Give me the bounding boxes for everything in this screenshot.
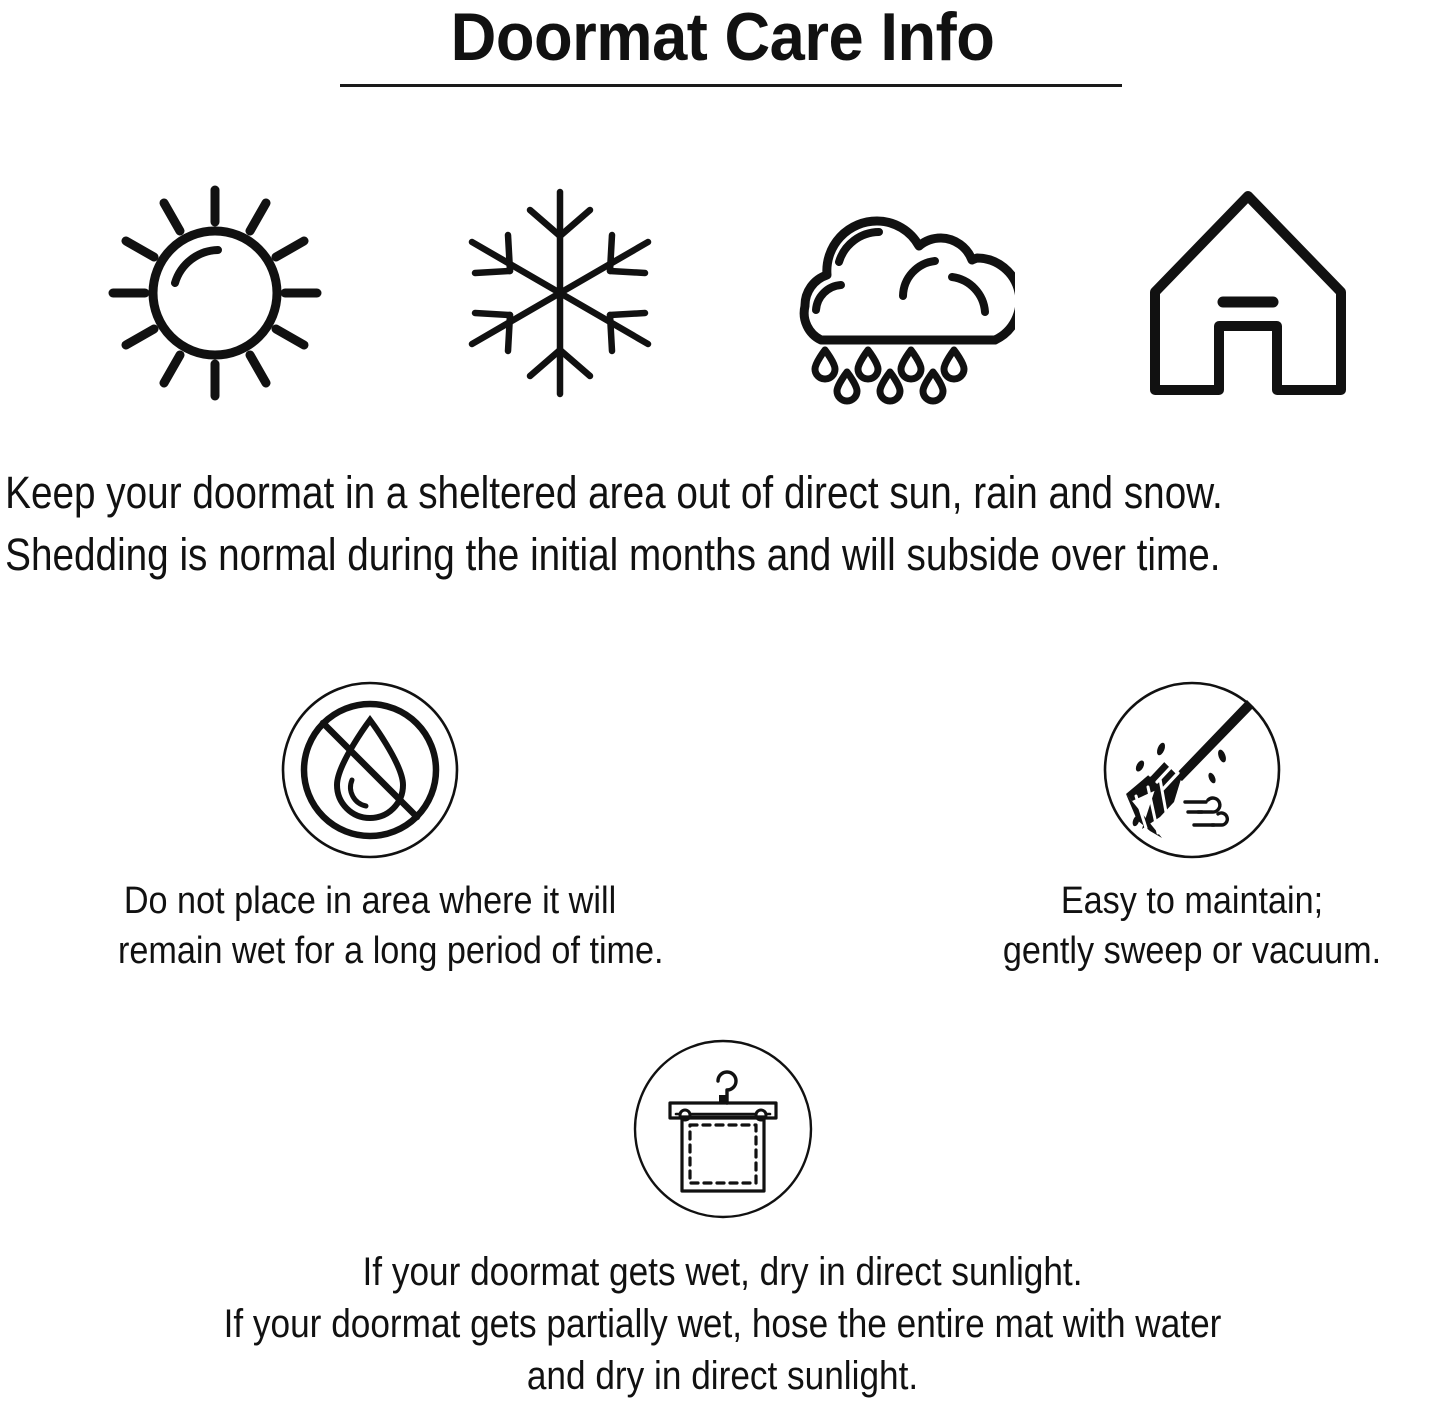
drying-line-2: If your doormat gets partially wet, hose…: [87, 1298, 1359, 1350]
title-block: Doormat Care Info: [0, 0, 1445, 74]
sun-icon: [100, 178, 330, 408]
page-title: Doormat Care Info: [51, 0, 1395, 74]
tip-easy-maintain-line-1: Easy to maintain;: [940, 876, 1444, 926]
tip-no-wet-area: Do not place in area where it will remai…: [90, 680, 650, 976]
tip-no-wet-area-line-1: Do not place in area where it will: [118, 876, 622, 926]
drying-line-1: If your doormat gets wet, dry in direct …: [87, 1246, 1359, 1298]
snowflake-icon: [445, 178, 675, 408]
tip-no-wet-area-line-2: remain wet for a long period of time.: [118, 926, 622, 976]
weather-icon-row: [0, 178, 1445, 408]
hanging-mat-icon: [632, 1038, 814, 1220]
drying-instructions-caption: If your doormat gets wet, dry in direct …: [0, 1246, 1445, 1402]
drying-instructions-block: If your doormat gets wet, dry in direct …: [0, 1038, 1445, 1402]
tip-easy-maintain-line-2: gently sweep or vacuum.: [940, 926, 1444, 976]
tip-no-wet-area-caption: Do not place in area where it will remai…: [90, 876, 650, 976]
no-water-icon: [280, 680, 460, 860]
care-tips-row: Do not place in area where it will remai…: [0, 680, 1445, 980]
tip-easy-maintain-caption: Easy to maintain; gently sweep or vacuum…: [912, 876, 1445, 976]
intro-line-1: Keep your doormat in a sheltered area ou…: [0, 462, 1243, 524]
tip-easy-maintain: Easy to maintain; gently sweep or vacuum…: [912, 680, 1445, 976]
house-icon: [1133, 178, 1363, 408]
rain-cloud-icon: [785, 178, 1015, 408]
intro-line-2: Shedding is normal during the initial mo…: [0, 524, 1243, 586]
drying-line-3: and dry in direct sunlight.: [87, 1350, 1359, 1402]
title-underline-rule: [340, 84, 1122, 87]
broom-sweep-icon: [1102, 680, 1282, 860]
intro-paragraph: Keep your doormat in a sheltered area ou…: [0, 462, 1445, 586]
